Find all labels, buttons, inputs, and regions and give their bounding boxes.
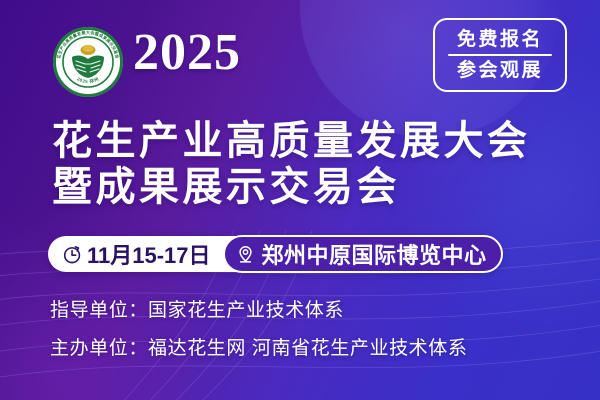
guidance-unit-line: 指导单位：国家花生产业技术体系 <box>50 292 467 330</box>
event-date-group: 11月15-17日 <box>48 236 223 272</box>
clock-icon <box>61 243 83 265</box>
event-venue-text: 郑州中原国际博览中心 <box>262 238 487 270</box>
event-date-text: 11月15-17日 <box>87 238 211 270</box>
conference-poster: 花生产业高质量发展大会暨成果展示交易会 2025 郑州 <box>0 0 600 400</box>
event-venue-group: 郑州中原国际博览中心 <box>223 235 503 273</box>
signup-badge-line-2: 参会观展 <box>457 56 543 85</box>
title-line-1: 花生产业高质量发展大会 <box>52 118 572 164</box>
title-line-2: 暨成果展示交易会 <box>52 164 572 210</box>
poster-title: 花生产业高质量发展大会 暨成果展示交易会 <box>52 118 572 210</box>
conference-emblem-icon: 花生产业高质量发展大会暨成果展示交易会 2025 郑州 <box>52 26 124 98</box>
organisers-block: 指导单位：国家花生产业技术体系 主办单位：福达花生网 河南省花生产业技术体系 <box>50 292 467 368</box>
free-signup-badge[interactable]: 免费报名 参会观展 <box>433 18 567 92</box>
map-pin-icon <box>235 243 257 265</box>
signup-badge-line-1: 免费报名 <box>457 25 543 54</box>
year-heading: 2025 <box>133 27 241 79</box>
host-unit-line: 主办单位：福达花生网 河南省花生产业技术体系 <box>50 330 467 368</box>
poster-header: 花生产业高质量发展大会暨成果展示交易会 2025 郑州 <box>0 0 600 108</box>
date-venue-pill: 11月15-17日 郑州中原国际博览中心 <box>48 236 502 272</box>
